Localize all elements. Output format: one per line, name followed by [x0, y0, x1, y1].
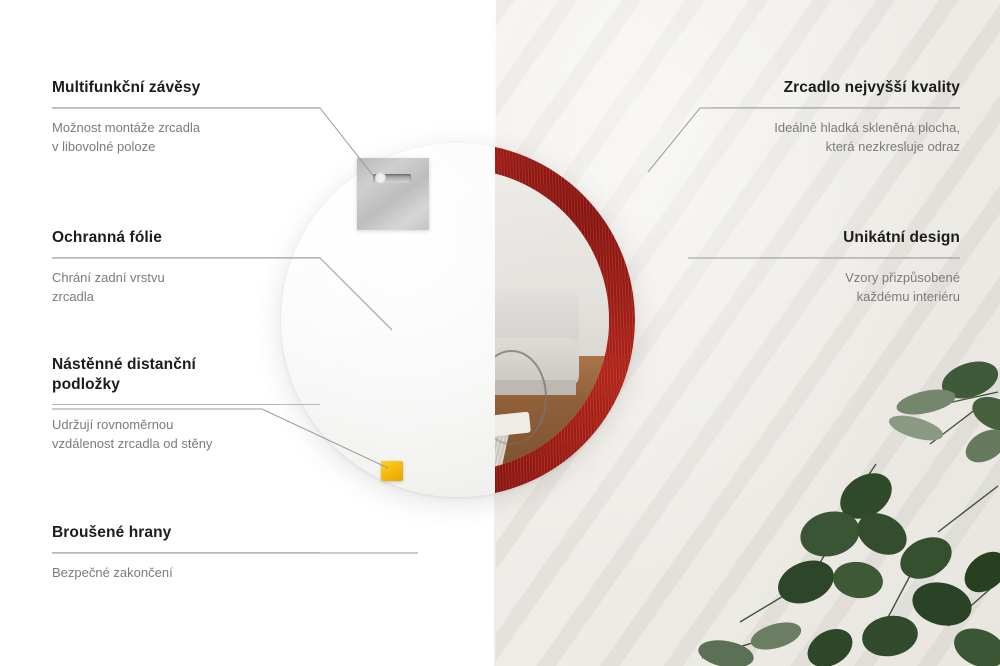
feature-desc-line-2: vzdálenost zrcadla od stěny: [52, 436, 212, 451]
feature-desc-line-2: každému interiéru: [857, 289, 960, 304]
feature-description: Ideálně hladká skleněná plocha, která ne…: [712, 119, 960, 156]
hanger-plate: [357, 158, 429, 230]
feature-divider: [760, 257, 960, 258]
feature-desc-line-1: Chrání zadní vrstvu: [52, 270, 165, 285]
feature-title: Ochranná fólie: [52, 228, 320, 248]
feature-desc-line-2: v libovolné poloze: [52, 139, 155, 154]
feature-description: Bezpečné zakončení: [52, 564, 320, 582]
product-mirror: [281, 143, 635, 497]
feature-divider: [52, 404, 320, 405]
feature-desc-line-1: Udržují rovnoměrnou: [52, 417, 173, 432]
feature-title: Nástěnné distanční podložky: [52, 355, 320, 395]
feature-title-line-1: Nástěnné distanční: [52, 356, 196, 373]
spacer-pad: [381, 461, 403, 481]
feature-description: Udržují rovnoměrnou vzdálenost zrcadla o…: [52, 416, 320, 453]
feature-label-multifunkcni-zavesy: Multifunkční závěsy Možnost montáže zrca…: [52, 78, 320, 156]
feature-description: Vzory přizpůsobené každému interiéru: [760, 269, 960, 306]
feature-title: Multifunkční závěsy: [52, 78, 320, 98]
feature-title-line-2: podložky: [52, 376, 120, 393]
feature-desc-line-2: zrcadla: [52, 289, 94, 304]
feature-label-zrcadlo-nejvyssi-kvality: Zrcadlo nejvyšší kvality Ideálně hladká …: [712, 78, 960, 156]
feature-desc-line-2: která nezkresluje odraz: [826, 139, 960, 154]
feature-label-ochranna-folie: Ochranná fólie Chrání zadní vrstvu zrcad…: [52, 228, 320, 306]
feature-label-brousene-hrany: Broušené hrany Bezpečné zakončení: [52, 523, 320, 583]
feature-desc-line-1: Ideálně hladká skleněná plocha,: [774, 120, 960, 135]
feature-description: Možnost montáže zrcadla v libovolné polo…: [52, 119, 320, 156]
feature-desc-line-1: Možnost montáže zrcadla: [52, 120, 200, 135]
feature-label-nastenne-distancni-podlozky: Nástěnné distanční podložky Udržují rovn…: [52, 355, 320, 453]
feature-desc-line-1: Bezpečné zakončení: [52, 565, 173, 580]
hanger-keyhole-slot: [373, 174, 411, 183]
feature-divider: [52, 107, 320, 108]
feature-divider: [52, 552, 320, 553]
infographic-canvas: Multifunkční závěsy Možnost montáže zrca…: [0, 0, 1000, 666]
feature-title: Zrcadlo nejvyšší kvality: [712, 78, 960, 98]
feature-divider: [712, 107, 960, 108]
feature-description: Chrání zadní vrstvu zrcadla: [52, 269, 320, 306]
feature-divider: [52, 257, 320, 258]
feature-title: Broušené hrany: [52, 523, 320, 543]
feature-title: Unikátní design: [760, 228, 960, 248]
feature-label-unikatni-design: Unikátní design Vzory přizpůsobené každé…: [760, 228, 960, 306]
feature-desc-line-1: Vzory přizpůsobené: [845, 270, 960, 285]
